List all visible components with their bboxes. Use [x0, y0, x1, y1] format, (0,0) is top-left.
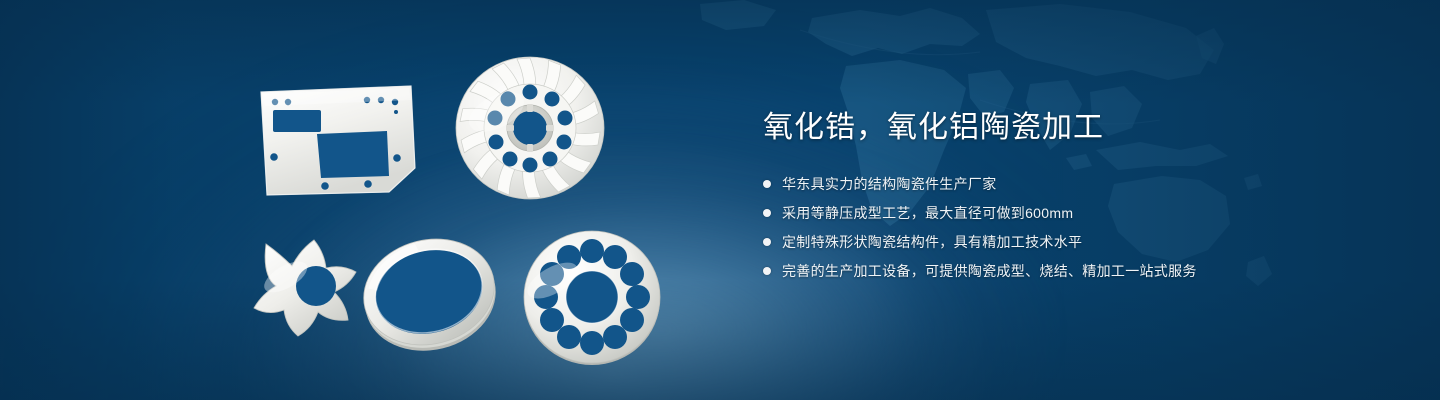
hero-banner: 氧化锆，氧化铝陶瓷加工 华东具实力的结构陶瓷件生产厂家 采用等静压成型工艺，最大… [0, 0, 1440, 400]
ceramic-plate-image [255, 80, 425, 200]
list-item-label: 采用等静压成型工艺，最大直径可做到600mm [782, 202, 1073, 224]
list-item: 定制特殊形状陶瓷结构件，具有精加工技术水平 [763, 230, 1403, 254]
product-image-cluster [0, 0, 740, 400]
list-item-label: 定制特殊形状陶瓷结构件，具有精加工技术水平 [782, 231, 1082, 253]
bullet-dot-icon [763, 238, 771, 246]
banner-copy: 氧化锆，氧化铝陶瓷加工 华东具实力的结构陶瓷件生产厂家 采用等静压成型工艺，最大… [763, 108, 1403, 288]
bullet-dot-icon [763, 209, 771, 217]
ceramic-ring-image [345, 222, 510, 362]
bullet-dot-icon [763, 267, 771, 275]
feature-list: 华东具实力的结构陶瓷件生产厂家 采用等静压成型工艺，最大直径可做到600mm 定… [763, 172, 1403, 283]
bullet-dot-icon [763, 180, 771, 188]
ceramic-impeller-image [450, 48, 610, 208]
page-title: 氧化锆，氧化铝陶瓷加工 [763, 108, 1403, 148]
list-item-label: 完善的生产加工设备，可提供陶瓷成型、烧结、精加工一站式服务 [782, 260, 1197, 282]
list-item: 完善的生产加工设备，可提供陶瓷成型、烧结、精加工一站式服务 [763, 259, 1403, 283]
list-item: 采用等静压成型工艺，最大直径可做到600mm [763, 201, 1403, 225]
list-item: 华东具实力的结构陶瓷件生产厂家 [763, 172, 1403, 196]
list-item-label: 华东具实力的结构陶瓷件生产厂家 [782, 173, 997, 195]
ceramic-perforated-disc-image [520, 225, 665, 370]
